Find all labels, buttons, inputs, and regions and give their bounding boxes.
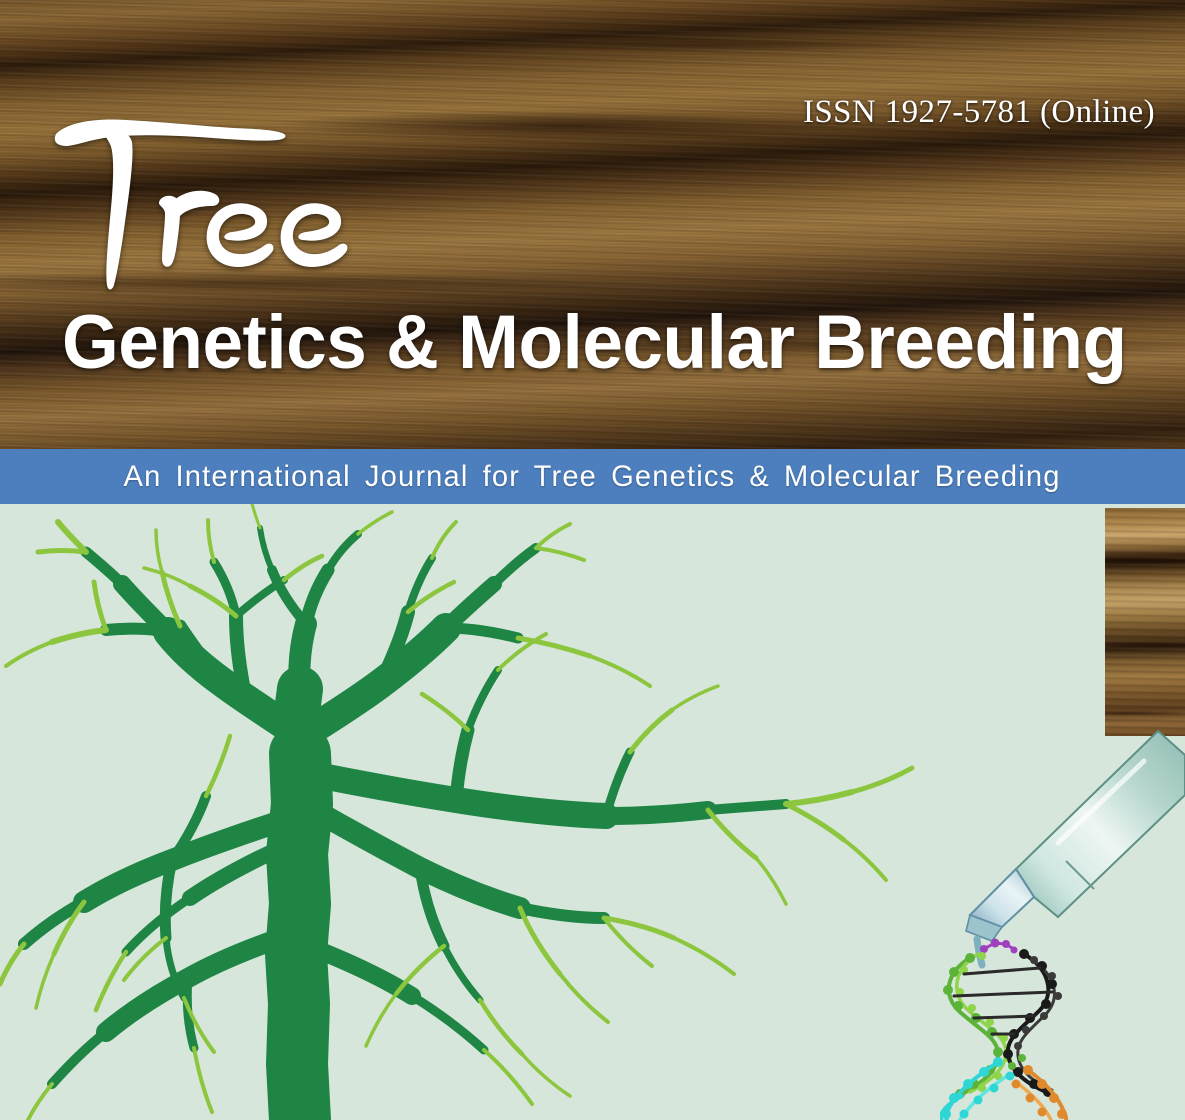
issn-text: ISSN 1927-5781 (Online) bbox=[803, 94, 1155, 131]
micropipette-illustration bbox=[930, 719, 1185, 969]
dna-double-helix-illustration bbox=[940, 934, 1140, 1120]
wood-grain-swatch bbox=[1105, 508, 1185, 736]
journal-title-script-tree bbox=[52, 112, 472, 297]
cover-artwork-panel bbox=[0, 504, 1185, 1120]
journal-cover: ISSN 1927-5781 (Online) Genetics & Molec… bbox=[0, 0, 1185, 1120]
tagline-banner: An International Journal for Tree Geneti… bbox=[0, 449, 1185, 504]
tree-silhouette-illustration bbox=[0, 504, 1040, 1120]
tagline-text: An International Journal for Tree Geneti… bbox=[124, 460, 1061, 494]
journal-title-main: Genetics & Molecular Breeding bbox=[62, 302, 1118, 384]
